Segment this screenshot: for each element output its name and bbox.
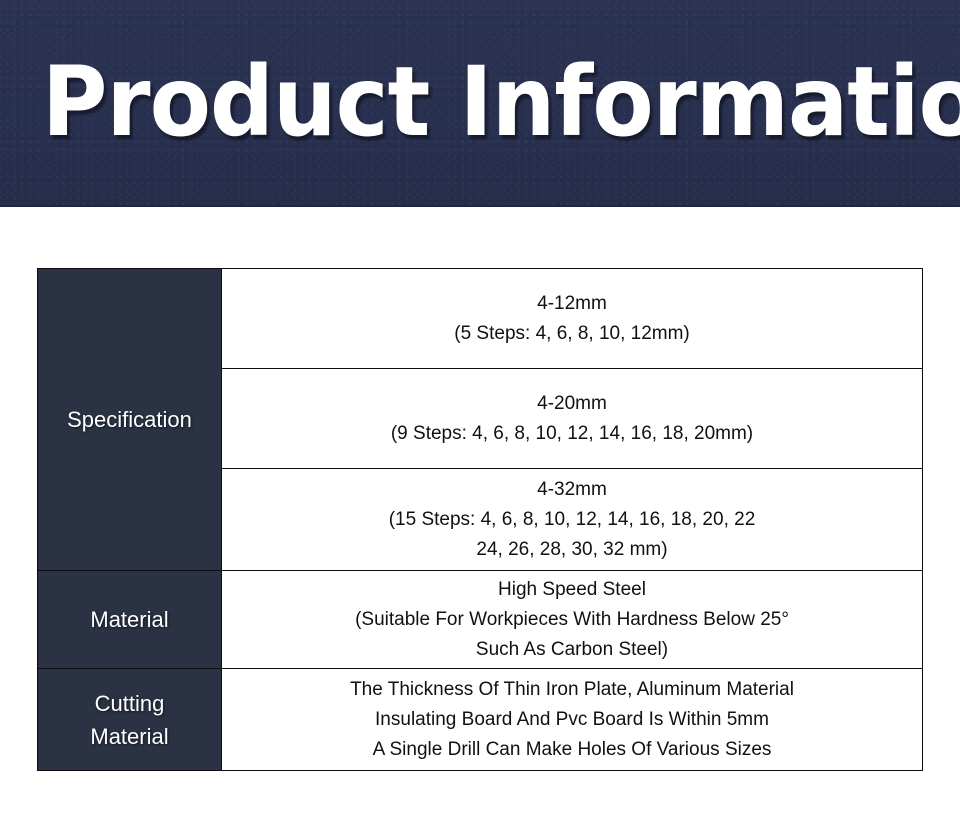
value-line: (Suitable For Workpieces With Hardness B… [222,605,922,635]
value-line: (15 Steps: 4, 6, 8, 10, 12, 14, 16, 18, … [222,505,922,535]
product-information-table-wrapper: Specification 4-12mm (5 Steps: 4, 6, 8, … [37,268,922,771]
label-line: Cutting [38,687,221,720]
value-line: 4-20mm [222,389,922,419]
row-value-specification-2: 4-20mm (9 Steps: 4, 6, 8, 10, 12, 14, 16… [222,369,923,469]
page-header-banner: Product Information [0,0,960,207]
value-line: Insulating Board And Pvc Board Is Within… [222,705,922,735]
row-label-material: Material [38,571,222,669]
value-line: 24, 26, 28, 30, 32 mm) [222,535,922,565]
row-value-specification-3: 4-32mm (15 Steps: 4, 6, 8, 10, 12, 14, 1… [222,469,923,571]
table-row: Material High Speed Steel (Suitable For … [38,571,923,669]
product-information-table: Specification 4-12mm (5 Steps: 4, 6, 8, … [37,268,923,771]
row-label-specification: Specification [38,269,222,571]
value-line: (5 Steps: 4, 6, 8, 10, 12mm) [222,319,922,349]
value-line: 4-12mm [222,289,922,319]
value-line: (9 Steps: 4, 6, 8, 10, 12, 14, 16, 18, 2… [222,419,922,449]
table-row: Specification 4-12mm (5 Steps: 4, 6, 8, … [38,269,923,369]
value-line: The Thickness Of Thin Iron Plate, Alumin… [222,675,922,705]
row-value-specification-1: 4-12mm (5 Steps: 4, 6, 8, 10, 12mm) [222,269,923,369]
row-value-cutting-material: The Thickness Of Thin Iron Plate, Alumin… [222,669,923,771]
banner-table-spacer [0,207,960,268]
label-line: Material [38,720,221,753]
row-label-cutting-material: Cutting Material [38,669,222,771]
value-line: A Single Drill Can Make Holes Of Various… [222,735,922,765]
table-row: Cutting Material The Thickness Of Thin I… [38,669,923,771]
row-value-material: High Speed Steel (Suitable For Workpiece… [222,571,923,669]
value-line: High Speed Steel [222,575,922,605]
table-body: Specification 4-12mm (5 Steps: 4, 6, 8, … [38,269,923,771]
value-line: Such As Carbon Steel) [222,635,922,665]
page-title: Product Information [42,50,960,154]
value-line: 4-32mm [222,475,922,505]
